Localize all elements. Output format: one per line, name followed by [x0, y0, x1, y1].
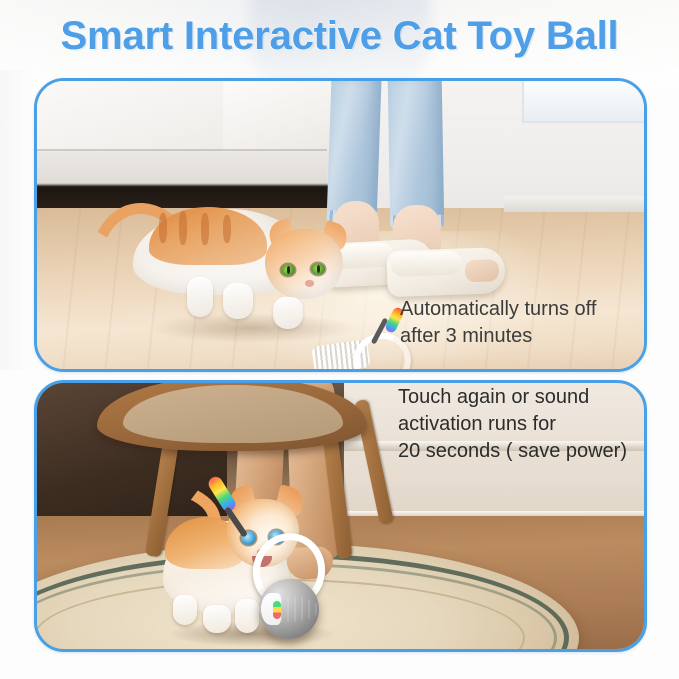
cat-front-paw [273, 297, 303, 329]
cat-eye-left [281, 264, 295, 276]
cat-paw [223, 283, 253, 319]
cat-shadow [147, 313, 357, 343]
toes-right [465, 259, 500, 282]
slipper-right [386, 247, 506, 297]
cat-toy-ball [259, 579, 319, 639]
ball-color-indicator [273, 601, 281, 619]
cat-pupil [287, 266, 290, 274]
product-marketing-image: Smart Interactive Cat Toy Ball [0, 0, 679, 679]
cat-stripe [201, 213, 209, 245]
page-title: Smart Interactive Cat Toy Ball [0, 12, 679, 60]
cat-pupil [317, 265, 320, 273]
baseboard [504, 196, 644, 212]
kitten-paw [203, 605, 231, 633]
cat-stripe [159, 213, 167, 243]
left-edge-vignette [0, 70, 34, 370]
kitten-paw [235, 599, 259, 633]
kitten-paw [173, 595, 197, 625]
cat-paw [187, 277, 213, 317]
caption-auto-off: Automatically turns off after 3 minutes [400, 296, 596, 350]
window-frame [522, 81, 644, 123]
cat-stripe [179, 211, 187, 245]
caption-touch-sound-activation: Touch again or sound activation runs for… [398, 384, 627, 465]
cat-nose [305, 280, 314, 287]
cat-eye-right [311, 263, 325, 275]
slipper-strap-right [390, 250, 462, 276]
cat-head [265, 229, 343, 299]
cat-stripe [223, 215, 231, 243]
